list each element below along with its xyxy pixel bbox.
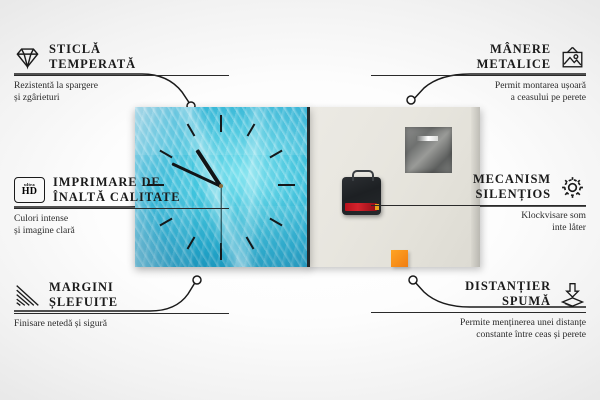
- picture-hanger-icon: [559, 45, 586, 70]
- callout-title: MÂNERE METALICE: [477, 42, 551, 72]
- callout-rule: [14, 313, 229, 314]
- callout-hq-printing: ultra HD IMPRIMARE DE ÎNALTĂ CALITATE Cu…: [14, 175, 229, 237]
- callout-head: STICLĂ TEMPERATĂ: [14, 42, 229, 72]
- callout-title: DISTANȚIER SPUMĂ: [465, 279, 551, 309]
- callout-head: MARGINI ȘLEFUITE: [14, 280, 229, 310]
- callout-metal-handles: MÂNERE METALICE Permit montarea ușoară a…: [371, 42, 586, 104]
- metal-hanger-plate: [405, 127, 452, 173]
- callout-title: MARGINI ȘLEFUITE: [49, 280, 118, 310]
- tick-12: [220, 115, 222, 132]
- callout-subtitle: Rezistentă la spargere și zgârieturi: [14, 80, 229, 104]
- callout-polished-edges: MARGINI ȘLEFUITE Finisare netedă și sigu…: [14, 280, 229, 330]
- infographic-canvas: STICLĂ TEMPERATĂ Rezistentă la spargere …: [0, 0, 600, 400]
- callout-rule: [371, 75, 586, 76]
- callout-head: MÂNERE METALICE: [371, 42, 586, 72]
- callout-tempered-glass: STICLĂ TEMPERATĂ Rezistentă la spargere …: [14, 42, 229, 104]
- ultra-hd-icon-main: HD: [22, 187, 38, 197]
- diamond-icon: [14, 45, 41, 70]
- callout-rule: [371, 205, 586, 206]
- callout-rule: [371, 312, 586, 313]
- callout-subtitle: Permite menținerea unei distanțe constan…: [371, 317, 586, 341]
- callout-rule: [14, 208, 229, 209]
- callout-subtitle: Culori intense și imagine clară: [14, 213, 229, 237]
- callout-head: ultra HD IMPRIMARE DE ÎNALTĂ CALITATE: [14, 175, 229, 205]
- callout-subtitle: Finisare netedă și sigură: [14, 318, 229, 330]
- callout-title: MECANISM SILENȚIOS: [473, 172, 551, 202]
- tick-3: [278, 184, 295, 186]
- callout-foam-spacer: DISTANȚIER SPUMĂ Permite menținerea unei…: [371, 279, 586, 341]
- foam-spacer: [391, 250, 408, 267]
- callout-head: MECANISM SILENȚIOS: [371, 172, 586, 202]
- callout-subtitle: Klockvisare som inte låter: [371, 210, 586, 234]
- callout-title: STICLĂ TEMPERATĂ: [49, 42, 136, 72]
- callout-rule: [14, 75, 229, 76]
- callout-silent-mechanism: MECANISM SILENȚIOS Klockvisare som inte …: [371, 172, 586, 234]
- callout-head: DISTANȚIER SPUMĂ: [371, 279, 586, 309]
- callout-subtitle: Permit montarea ușoară a ceasului pe per…: [371, 80, 586, 104]
- foam-spacer-icon: [559, 282, 586, 307]
- ultra-hd-icon: ultra HD: [14, 177, 45, 203]
- gear-icon: [559, 175, 586, 200]
- callout-title: IMPRIMARE DE ÎNALTĂ CALITATE: [53, 175, 181, 205]
- polished-edge-icon: [14, 283, 41, 308]
- hanger-slot: [416, 136, 438, 141]
